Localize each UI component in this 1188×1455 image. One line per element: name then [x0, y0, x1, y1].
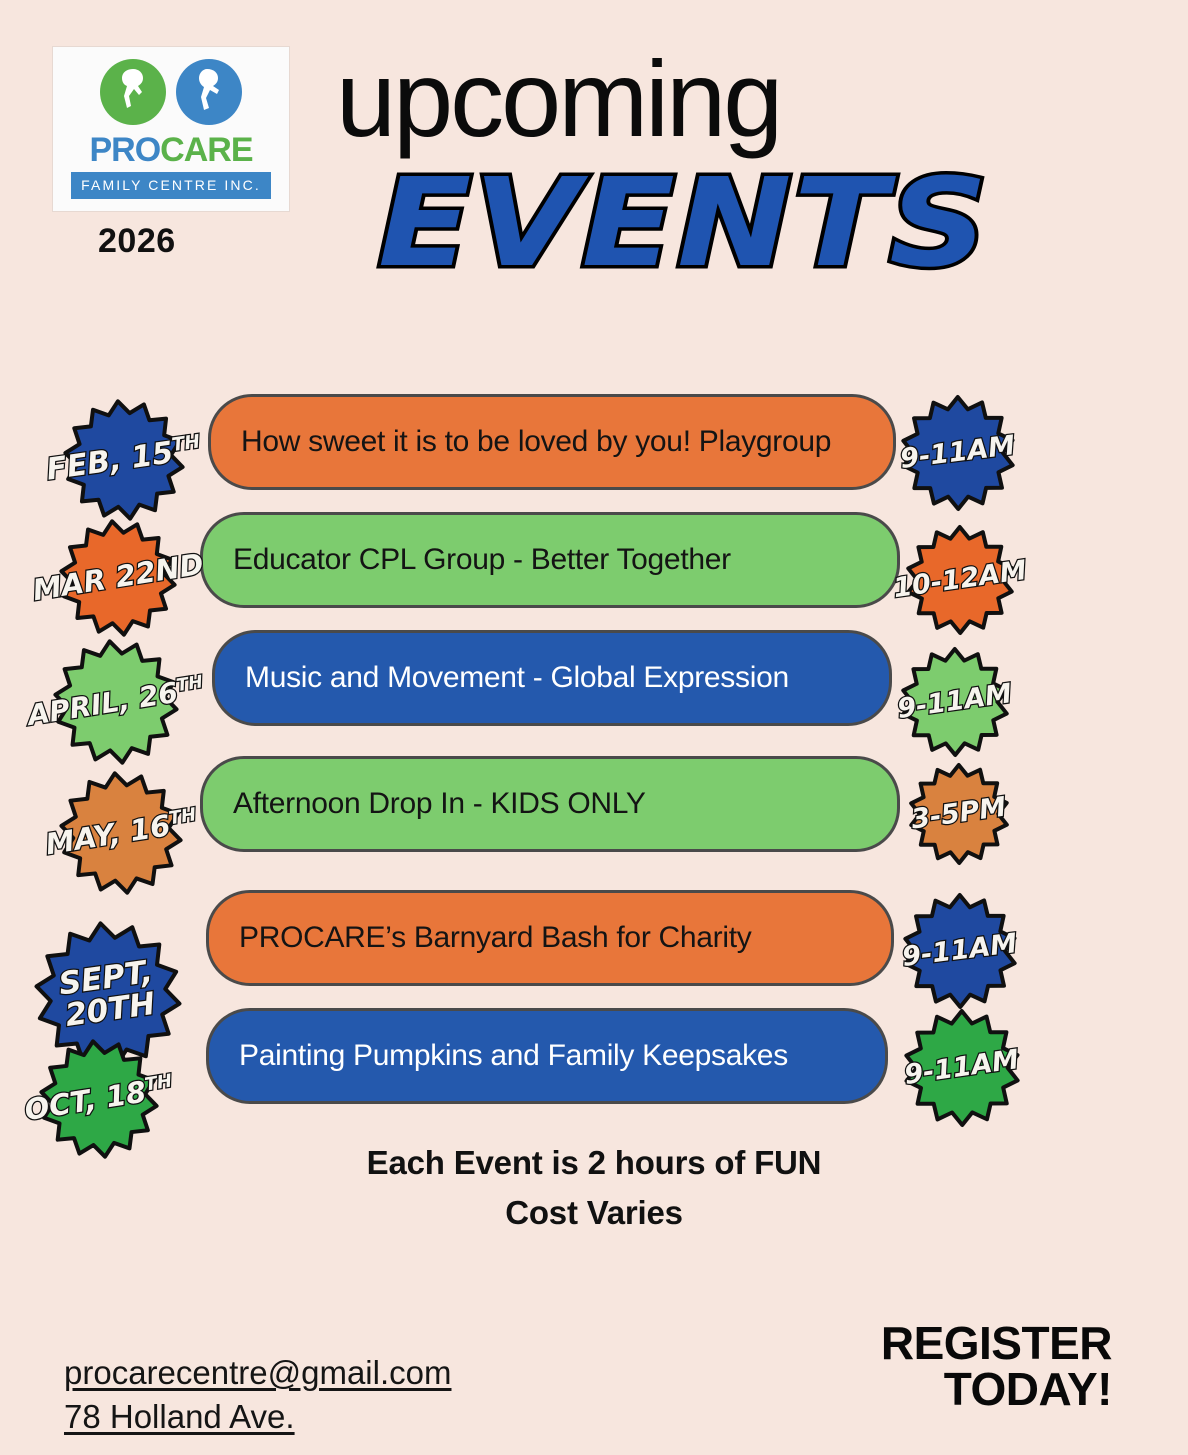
register-line-1: REGISTER	[881, 1320, 1112, 1366]
event-time-badge: 9-11AM	[876, 646, 1034, 758]
event-pill: How sweet it is to be loved by you! Play…	[208, 394, 896, 490]
event-pill: Painting Pumpkins and Family Keepsakes	[206, 1008, 888, 1104]
event-time-badge: 10-12AM	[876, 524, 1044, 636]
note-duration: Each Event is 2 hours of FUN	[0, 1144, 1188, 1182]
event-pill: PROCARE’s Barnyard Bash for Charity	[206, 890, 894, 986]
event-date-badge: FEB, 15TH	[26, 398, 222, 522]
event-pill: Afternoon Drop In - KIDS ONLY	[200, 756, 900, 852]
event-date-badge: MAY, 16TH	[24, 770, 218, 896]
event-title: Educator CPL Group - Better Together	[233, 543, 731, 577]
register-callout: REGISTER TODAY!	[881, 1320, 1112, 1412]
event-date-label: SEPT,20TH	[57, 957, 159, 1033]
event-time-badge: 3-5PM	[884, 762, 1034, 866]
note-cost: Cost Varies	[0, 1194, 1188, 1232]
event-list: How sweet it is to be loved by you! Play…	[0, 0, 1188, 1455]
register-line-2: TODAY!	[881, 1366, 1112, 1412]
event-date-badge: OCT, 18TH	[0, 1038, 198, 1160]
contact-address[interactable]: 78 Holland Ave.	[64, 1398, 295, 1436]
event-date-badge: MAR 22ND	[18, 518, 218, 638]
event-date-badge: APRIL, 26TH	[14, 638, 218, 766]
event-time-badge: 9-11AM	[878, 394, 1038, 512]
event-pill: Educator CPL Group - Better Together	[200, 512, 900, 608]
event-time-badge: 9-11AM	[878, 892, 1042, 1010]
event-title: PROCARE’s Barnyard Bash for Charity	[239, 921, 751, 955]
event-title: Music and Movement - Global Expression	[245, 661, 789, 695]
event-title: Afternoon Drop In - KIDS ONLY	[233, 787, 646, 821]
event-title: Painting Pumpkins and Family Keepsakes	[239, 1039, 788, 1073]
event-title: How sweet it is to be loved by you! Play…	[241, 425, 831, 459]
event-pill: Music and Movement - Global Expression	[212, 630, 892, 726]
event-time-badge: 9-11AM	[880, 1008, 1044, 1128]
contact-email[interactable]: procarecentre@gmail.com	[64, 1354, 451, 1392]
